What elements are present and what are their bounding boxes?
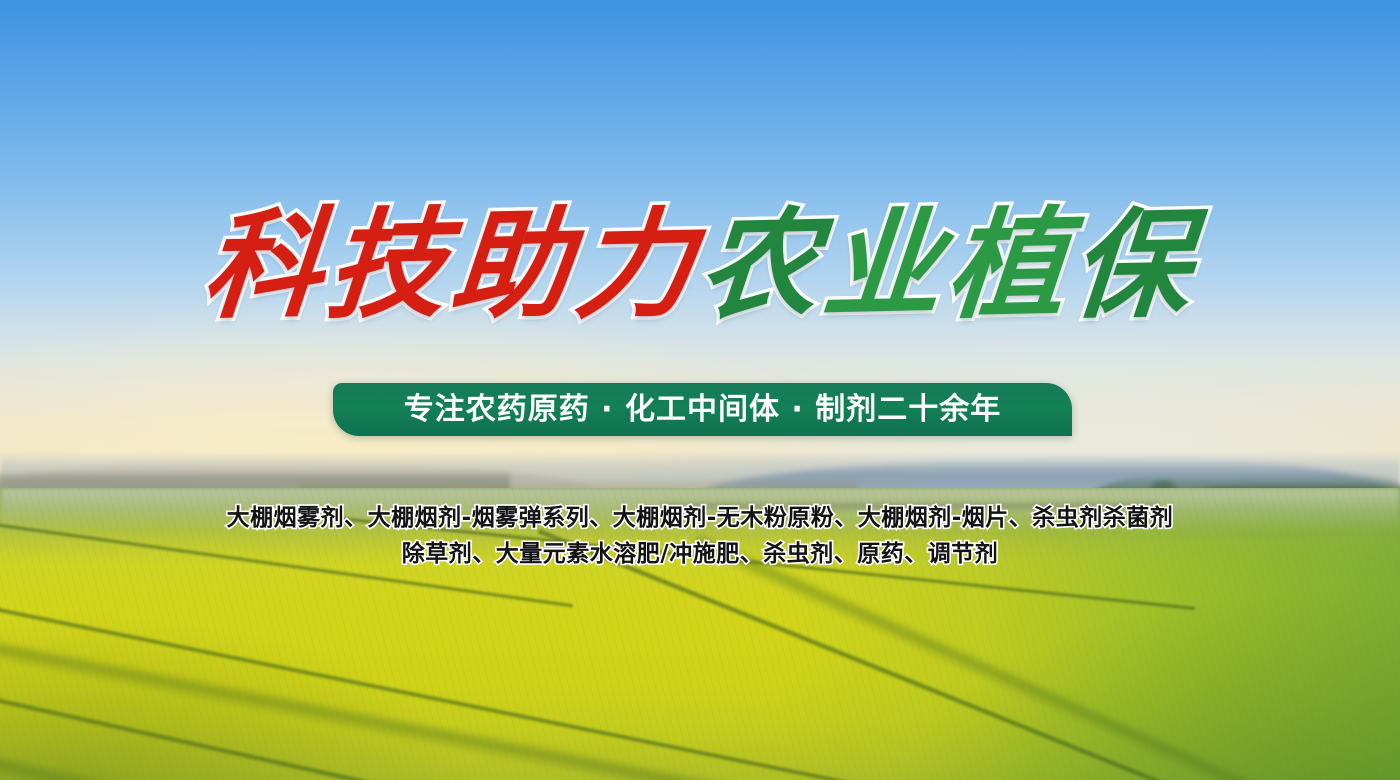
field-shadow-right: [900, 590, 1400, 780]
crop-field: [0, 488, 1400, 780]
subtitle-banner: 专注农药原药 · 化工中间体 · 制剂二十余年: [333, 383, 1072, 436]
promo-banner: 科技助力农业植保 专注农药原药 · 化工中间体 · 制剂二十余年 大棚烟雾剂、大…: [0, 0, 1400, 780]
subtitle-text: 专注农药原药 · 化工中间体 · 制剂二十余年: [404, 395, 1002, 425]
field-shadow-left: [0, 610, 480, 780]
